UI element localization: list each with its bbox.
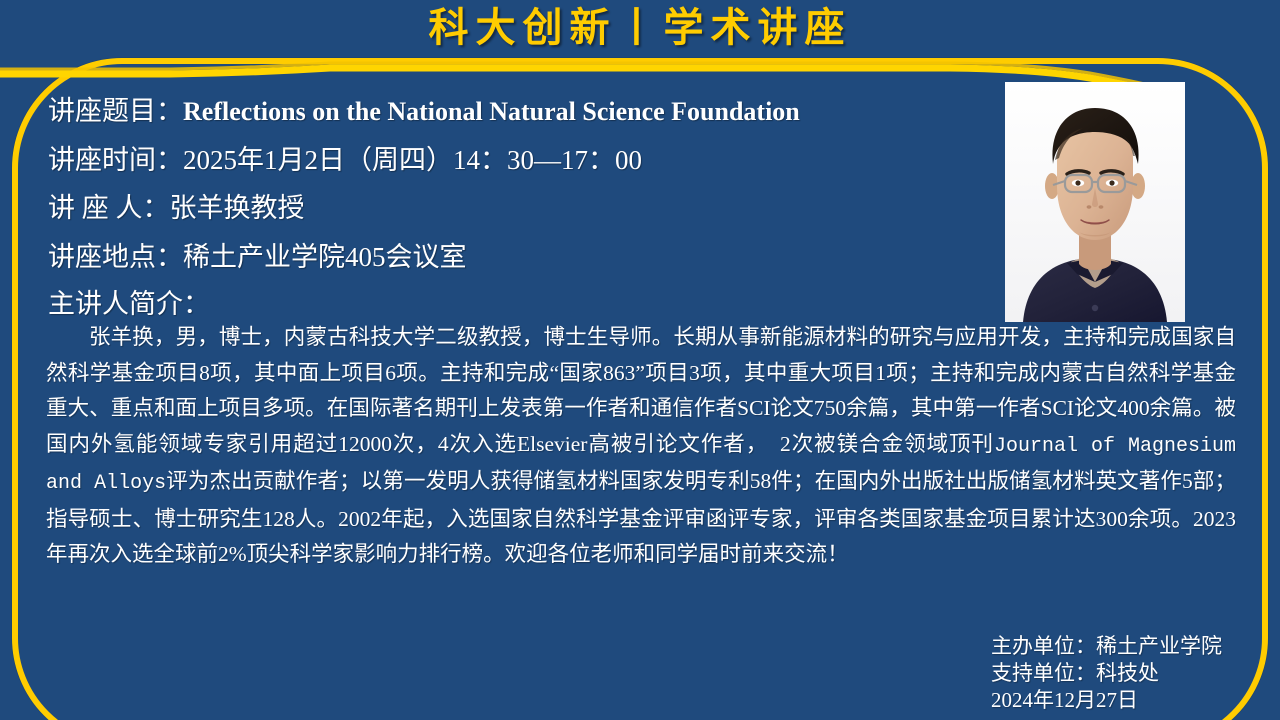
lecture-poster: 科大创新丨学术讲座 讲座题目： Reflections on the Natio… (0, 0, 1280, 720)
info-label-speaker: 讲 座 人： (48, 191, 170, 226)
info-value-venue: 稀土产业学院405会议室 (183, 240, 467, 275)
info-value-time: 2025年1月2日（周四）14：30—17：00 (183, 143, 642, 178)
footer-date: 2024年12月27日 (991, 687, 1222, 714)
info-label-venue: 讲座地点： (48, 240, 183, 275)
info-value-topic: Reflections on the National Natural Scie… (183, 95, 800, 128)
info-value-speaker: 张羊换教授 (170, 191, 305, 226)
speaker-portrait-photo (1005, 82, 1185, 322)
biography-text: 张羊换，男，博士，内蒙古科技大学二级教授，博士生导师。长期从事新能源材料的研究与… (46, 320, 1236, 573)
info-row-venue: 讲座地点： 稀土产业学院405会议室 (48, 240, 998, 275)
portrait-illustration (1005, 82, 1185, 322)
footer-supporter: 支持单位：科技处 (991, 660, 1222, 687)
info-label-time: 讲座时间： (48, 143, 183, 178)
info-label-topic: 讲座题目： (48, 94, 183, 129)
poster-footer: 主办单位：稀土产业学院 支持单位：科技处 2024年12月27日 (991, 633, 1222, 714)
biography-text-part2: 评为杰出贡献作者；以第一发明人获得储氢材料国家发明专利58件；在国内外出版社出版… (46, 469, 1236, 566)
info-row-topic: 讲座题目： Reflections on the National Natura… (48, 94, 998, 129)
poster-header: 科大创新丨学术讲座 (0, 0, 1280, 56)
info-row-time: 讲座时间： 2025年1月2日（周四）14：30—17：00 (48, 143, 998, 178)
page-title: 科大创新丨学术讲座 (429, 8, 852, 48)
footer-organizer: 主办单位：稀土产业学院 (991, 633, 1222, 660)
lecture-info-list: 讲座题目： Reflections on the National Natura… (48, 94, 998, 288)
info-row-speaker: 讲 座 人： 张羊换教授 (48, 191, 998, 226)
biography-heading: 主讲人简介： (48, 282, 210, 321)
